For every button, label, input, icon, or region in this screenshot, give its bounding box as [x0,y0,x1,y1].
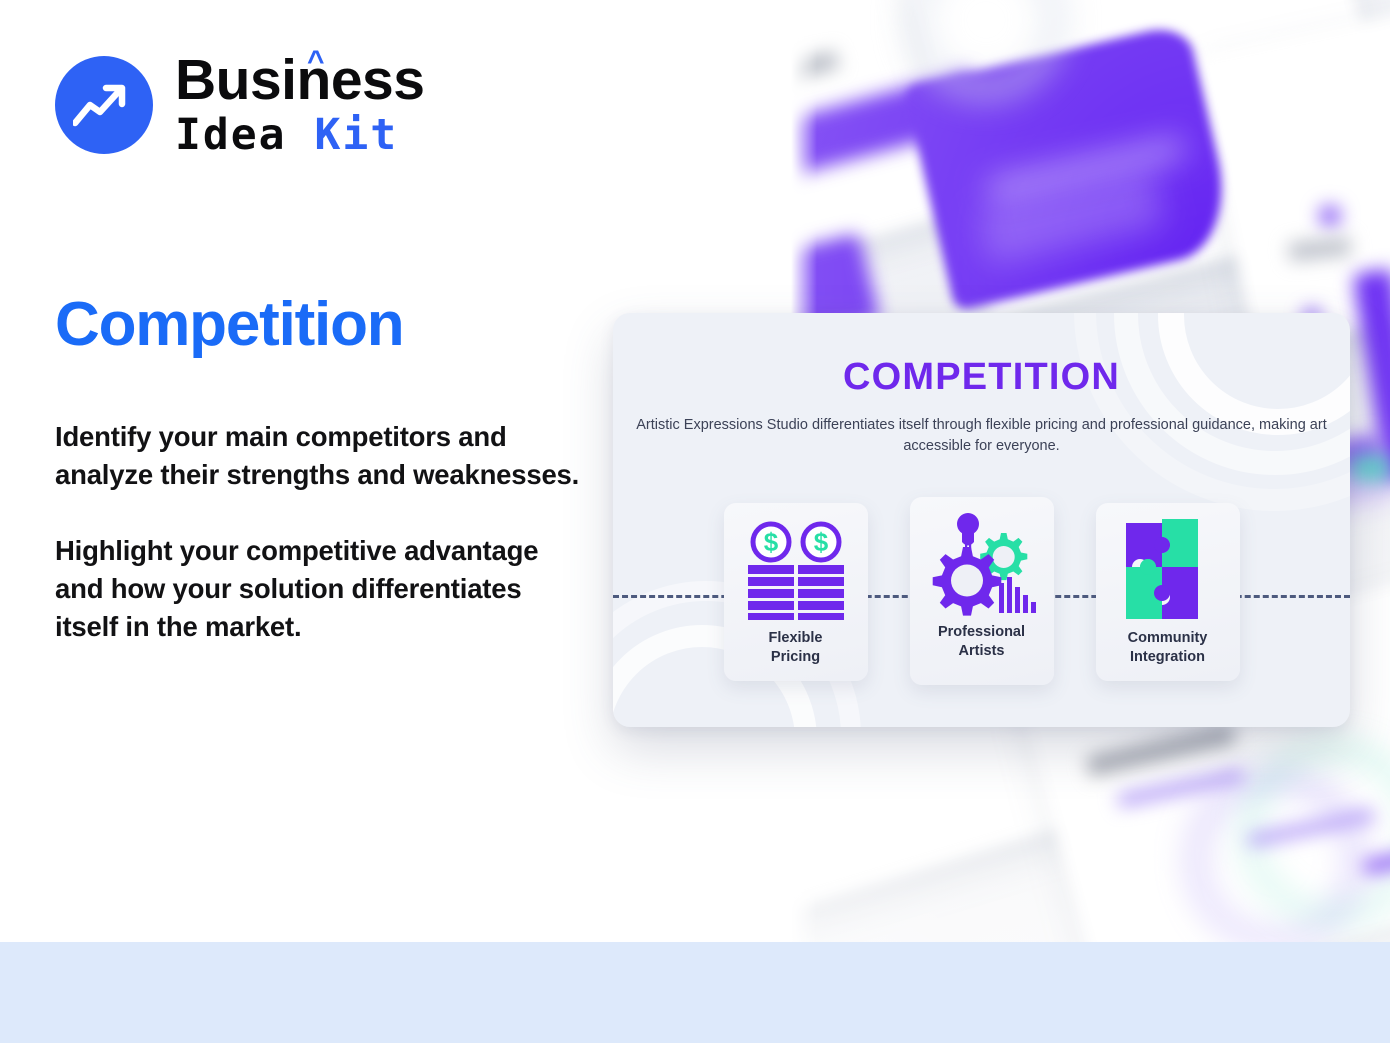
body-paragraph-1: Identify your main competitors and analy… [55,418,580,494]
brand-kit-text: Kit [314,110,398,160]
brand-idea-text: Idea [175,110,287,160]
slide-subtitle: Artistic Expressions Studio differentiat… [613,415,1350,456]
slide-export-canvas: Business ^ Idea Kit Competition Identify… [0,0,1390,1043]
slide-preview-card[interactable]: COMPETITION Artistic Expressions Studio … [613,313,1350,727]
feature-row: $ $ [613,503,1350,685]
feature-label-line2: Integration [1130,649,1205,665]
svg-text:$: $ [813,527,828,557]
feature-label-line1: Flexible [769,630,823,646]
bottom-accent-band [0,942,1390,1043]
body-copy: Identify your main competitors and analy… [55,418,580,646]
feature-label-line2: Pricing [771,649,820,665]
feature-label: Community Integration [1128,629,1208,667]
slide-title: COMPETITION [613,356,1350,399]
bg-teal-block [1351,455,1390,481]
stacked-coins-dollar-icon: $ $ [742,517,850,625]
brand-logo[interactable]: Business ^ Idea Kit [55,53,424,157]
brand-circumflex-accent: ^ [307,47,324,76]
brand-name-text: Business [175,48,424,112]
feature-card-community-integration[interactable]: Community Integration [1096,503,1240,681]
page-title: Competition [55,294,403,356]
feature-label: Professional Artists [938,623,1025,661]
brand-name-line2: Idea Kit [175,114,424,157]
feature-card-flexible-pricing[interactable]: $ $ [724,503,868,681]
puzzle-pieces-icon [1120,517,1216,625]
feature-label-line1: Community [1128,630,1208,646]
bg-dot [1319,205,1341,227]
svg-text:$: $ [763,527,778,557]
growth-arrow-circle-icon [55,56,153,154]
feature-card-professional-artists[interactable]: Professional Artists [910,497,1054,685]
brand-name-line1: Business ^ [175,53,424,109]
body-paragraph-2: Highlight your competitive advantage and… [55,532,580,646]
feature-label: Flexible Pricing [769,629,823,667]
feature-label-line2: Artists [959,643,1005,659]
feature-label-line1: Professional [938,624,1025,640]
gears-lightbulb-chart-icon [927,511,1037,619]
